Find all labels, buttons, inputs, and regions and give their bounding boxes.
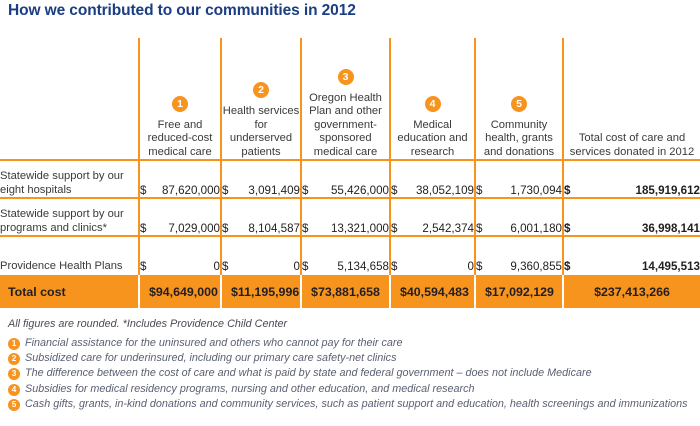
badge-2-icon: 2 (8, 353, 20, 365)
page-title: How we contributed to our communities in… (8, 2, 608, 20)
row-3-cell-2: $ 0 (221, 236, 301, 274)
row-2-cell-3: $ 13,321,000 (301, 198, 390, 236)
amount-value: 0 (214, 260, 220, 273)
row-1-cell-4: $ 38,052,109 (390, 160, 475, 198)
footnote-2-text: Subsidized care for underinsured, includ… (25, 352, 396, 365)
column-header-2: 2 Health services for underserved patien… (221, 38, 301, 160)
currency-symbol: $ (391, 260, 399, 273)
total-cell-1: $94,649,000 (139, 274, 221, 308)
currency-symbol: $ (564, 184, 572, 197)
amount-value: 6,001,180 (510, 222, 562, 235)
currency-symbol: $ (140, 184, 148, 197)
footnote-4-text: Subsidies for medical residency programs… (25, 383, 475, 396)
amount-value: 9,360,855 (510, 260, 562, 273)
header-corner-blank (0, 38, 139, 160)
total-cell-grand-total: $237,413,266 (563, 274, 700, 308)
row-3-cell-3: $ 5,134,658 (301, 236, 390, 274)
footnote-1: 1 Financial assistance for the uninsured… (8, 337, 698, 350)
amount-value: 14,495,513 (642, 260, 700, 273)
row-1-cell-1: $ 87,620,000 (139, 160, 221, 198)
footnote-5-text: Cash gifts, grants, in-kind donations an… (25, 398, 688, 411)
currency-symbol: $ (140, 222, 148, 235)
column-header-1: 1 Free and reduced-cost medical care (139, 38, 221, 160)
column-header-1-label: Free and reduced-cost medical care (140, 119, 220, 159)
currency-symbol: $ (302, 184, 310, 197)
column-header-4: 4 Medical education and research (390, 38, 475, 160)
amount-value: 55,426,000 (331, 184, 389, 197)
total-cell-2: $11,195,996 (221, 274, 301, 308)
total-cell-4: $40,594,483 (390, 274, 475, 308)
row-2-cell-1: $ 7,029,000 (139, 198, 221, 236)
currency-symbol: $ (564, 260, 572, 273)
total-cell-5: $17,092,129 (475, 274, 563, 308)
badge-spacer (564, 109, 700, 132)
badge-1-icon: 1 (8, 338, 20, 350)
currency-symbol: $ (391, 222, 399, 235)
amount-value: 8,104,587 (248, 222, 300, 235)
badge-3-icon: 3 (8, 368, 20, 380)
badge-3-icon: 3 (338, 69, 354, 85)
currency-symbol: $ (222, 222, 230, 235)
row-3-cell-4: $ 0 (390, 236, 475, 274)
currency-symbol: $ (222, 260, 230, 273)
currency-symbol: $ (140, 260, 148, 273)
currency-symbol: $ (302, 222, 310, 235)
row-1-label: Statewide support by our eight hospitals (0, 160, 139, 198)
infographic-page: How we contributed to our communities in… (0, 0, 700, 426)
column-header-5: 5 Community health, grants and donations (475, 38, 563, 160)
badge-5-icon: 5 (8, 399, 20, 411)
column-header-total: Total cost of care and services donated … (563, 38, 700, 160)
contributions-table: 1 Free and reduced-cost medical care 2 H… (0, 38, 700, 308)
amount-value: 2,542,374 (422, 222, 474, 235)
row-1-cell-3: $ 55,426,000 (301, 160, 390, 198)
column-header-5-label: Community health, grants and donations (476, 119, 562, 159)
badge-4-icon: 4 (8, 384, 20, 396)
badge-1-icon: 1 (172, 96, 188, 112)
currency-symbol: $ (476, 260, 484, 273)
row-2-cell-2: $ 8,104,587 (221, 198, 301, 236)
amount-value: 0 (468, 260, 474, 273)
column-header-total-label: Total cost of care and services donated … (564, 132, 700, 159)
footnote-5: 5 Cash gifts, grants, in-kind donations … (8, 398, 698, 411)
badge-4-icon: 4 (425, 96, 441, 112)
table-row: Providence Health Plans $ 0 $ 0 $ (0, 236, 700, 274)
amount-value: 3,091,409 (248, 184, 300, 197)
amount-value: 13,321,000 (331, 222, 389, 235)
row-3-cell-total: $ 14,495,513 (563, 236, 700, 274)
total-cost-row: Total cost $94,649,000 $11,195,996 $73,8… (0, 274, 700, 308)
row-2-cell-total: $ 36,998,141 (563, 198, 700, 236)
contributions-table-wrapper: 1 Free and reduced-cost medical care 2 H… (0, 38, 700, 308)
amount-value: 185,919,612 (636, 184, 700, 197)
total-row-label: Total cost (0, 274, 139, 308)
row-2-label: Statewide support by our programs and cl… (0, 198, 139, 236)
column-header-3: 3 Oregon Health Plan and other governmen… (301, 38, 390, 160)
row-2-cell-5: $ 6,001,180 (475, 198, 563, 236)
column-header-2-label: Health services for underserved patients (222, 105, 300, 159)
amount-value: 5,134,658 (337, 260, 389, 273)
footnotes: All figures are rounded. *Includes Provi… (8, 318, 698, 413)
amount-value: 0 (294, 260, 300, 273)
row-2-cell-4: $ 2,542,374 (390, 198, 475, 236)
badge-2-icon: 2 (253, 82, 269, 98)
currency-symbol: $ (476, 222, 484, 235)
currency-symbol: $ (391, 184, 399, 197)
currency-symbol: $ (476, 184, 484, 197)
table-header-row: 1 Free and reduced-cost medical care 2 H… (0, 38, 700, 160)
row-1-cell-total: $ 185,919,612 (563, 160, 700, 198)
table-row: Statewide support by our programs and cl… (0, 198, 700, 236)
note-rounded: All figures are rounded. *Includes Provi… (8, 318, 698, 330)
currency-symbol: $ (222, 184, 230, 197)
footnote-1-text: Financial assistance for the uninsured a… (25, 337, 403, 350)
row-3-label: Providence Health Plans (0, 236, 139, 274)
currency-symbol: $ (302, 260, 310, 273)
amount-value: 87,620,000 (162, 184, 220, 197)
footnote-3-text: The difference between the cost of care … (25, 367, 592, 380)
column-header-3-label: Oregon Health Plan and other government-… (302, 92, 389, 159)
column-header-4-label: Medical education and research (391, 119, 474, 159)
amount-value: 36,998,141 (642, 222, 700, 235)
row-3-cell-1: $ 0 (139, 236, 221, 274)
row-3-cell-5: $ 9,360,855 (475, 236, 563, 274)
total-cell-3: $73,881,658 (301, 274, 390, 308)
table-row: Statewide support by our eight hospitals… (0, 160, 700, 198)
amount-value: 1,730,094 (510, 184, 562, 197)
amount-value: 38,052,109 (416, 184, 474, 197)
footnote-3: 3 The difference between the cost of car… (8, 367, 698, 380)
row-1-cell-2: $ 3,091,409 (221, 160, 301, 198)
row-1-cell-5: $ 1,730,094 (475, 160, 563, 198)
footnote-4: 4 Subsidies for medical residency progra… (8, 383, 698, 396)
badge-5-icon: 5 (511, 96, 527, 112)
currency-symbol: $ (564, 222, 572, 235)
amount-value: 7,029,000 (168, 222, 220, 235)
footnote-2: 2 Subsidized care for underinsured, incl… (8, 352, 698, 365)
